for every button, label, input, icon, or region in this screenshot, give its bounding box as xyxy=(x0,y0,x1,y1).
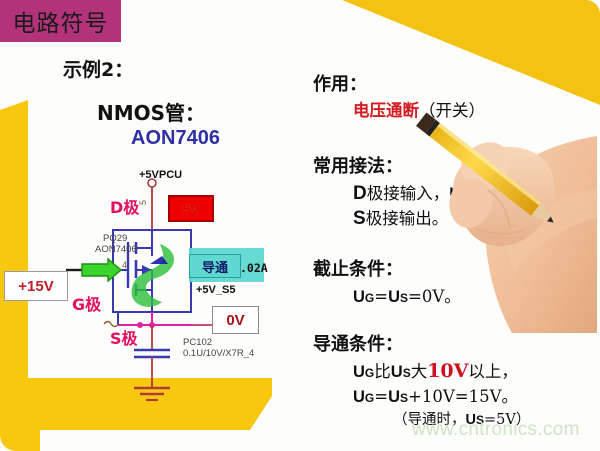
cond1-u1: U xyxy=(353,363,365,381)
pin-number-drain: 5 xyxy=(138,200,148,205)
device-heading: NMOS管： xyxy=(97,97,205,126)
example-label: 示例2： xyxy=(63,55,133,82)
cond2-tail: +10V=15V。 xyxy=(408,387,518,406)
ref-part-name: AON7406 xyxy=(95,244,137,255)
title-badge: 电路符号 xyxy=(0,0,121,42)
hand-with-pencil-illustration xyxy=(392,88,597,333)
cutoff-u1: U xyxy=(353,288,365,306)
cond2-sub1: G xyxy=(365,391,374,405)
cond1-u2: U xyxy=(391,363,403,381)
conduct-line-1: UG比US大10V以上， xyxy=(353,358,518,382)
conduct-heading: 导通条件： xyxy=(313,330,403,356)
title-badge-label: 电路符号 xyxy=(13,4,109,38)
conduct-line-2: UG=US+10V=15V。 xyxy=(353,383,518,407)
pole-label-gate: G极 xyxy=(72,291,101,315)
cond2-u2: U xyxy=(388,388,400,406)
cond2-sub2: S xyxy=(400,391,408,405)
cond1-sub1: G xyxy=(365,366,374,380)
source-voltage-box: 0V xyxy=(212,306,259,334)
junction-dot-left xyxy=(137,322,143,328)
cutoff-sub1: G xyxy=(365,291,374,305)
cond1-sub2: S xyxy=(403,366,411,380)
capacitor-value: 0.1U/10V/X7R_4 xyxy=(183,348,254,359)
gate-voltage-box: +15V xyxy=(4,271,68,301)
cond1-highlight: 10V xyxy=(427,360,468,382)
gate-drive-arrow xyxy=(82,259,121,281)
cutoff-heading: 截止条件： xyxy=(313,255,403,281)
current-annotation: .02A xyxy=(240,261,268,275)
usage-drain-letter: D xyxy=(353,183,367,204)
site-watermark: www.cntronics.com xyxy=(412,419,580,441)
cond1-big: 大 xyxy=(411,362,428,381)
cond2-eq: = xyxy=(374,387,388,406)
pole-label-drain: D极 xyxy=(110,194,139,218)
cutoff-eq1: = xyxy=(374,287,388,306)
drain-voltage-box: 5V xyxy=(168,195,214,222)
ref-designator: PQ29 xyxy=(103,233,127,244)
usage-source-letter: S xyxy=(353,208,366,229)
pin-number-gate: 4 xyxy=(122,260,127,270)
cond2-u1: U xyxy=(353,388,365,406)
role-heading: 作用： xyxy=(313,70,367,96)
net-label-top: +5VPCU xyxy=(139,169,182,181)
pole-label-source: S极 xyxy=(110,325,138,349)
part-number-label: AON7406 xyxy=(131,127,220,150)
conduct-state-badge: 导通 xyxy=(189,254,241,278)
capacitor-ref: PC102 xyxy=(183,337,212,348)
usage-heading: 常用接法： xyxy=(313,152,403,178)
cond1-mid: 比 xyxy=(374,362,391,381)
net-label-source: +5V_S5 xyxy=(196,284,235,296)
cond1-tail: 以上， xyxy=(468,362,518,381)
slide-canvas: 电路符号 示例2： NMOS管： AON7406 xyxy=(0,0,600,451)
